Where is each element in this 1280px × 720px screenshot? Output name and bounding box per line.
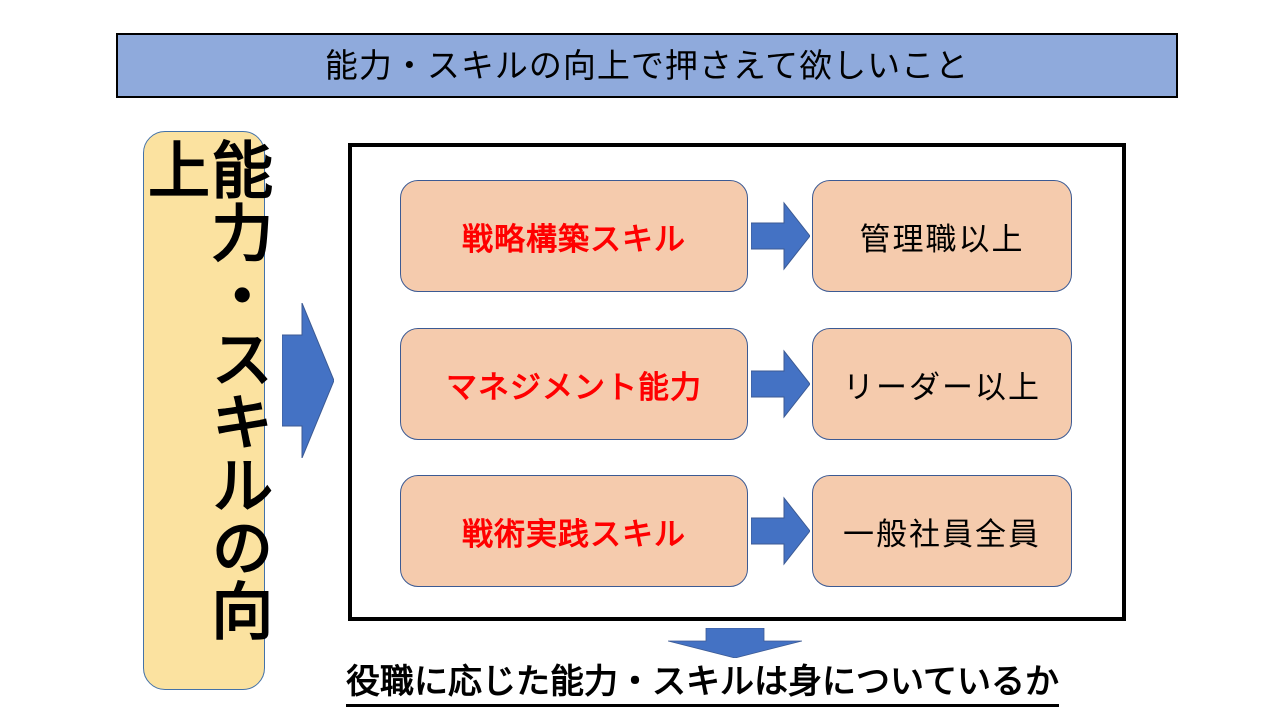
right-arrow-icon [751,349,810,419]
target-box: 管理職以上 [812,180,1072,292]
mapping-panel: 戦略構築スキル 管理職以上 マネジメント能力 リーダー以上 戦術実践スキル [348,143,1126,621]
right-arrow-icon [751,201,810,271]
table-row: マネジメント能力 リーダー以上 [400,328,1122,440]
right-arrow-icon [751,496,810,566]
vertical-theme-box: 能力・スキルの向上 [143,131,265,690]
chevron-right-arrow-icon [282,303,334,458]
skill-label: 戦術実践スキル [462,509,686,554]
skill-label: 戦略構築スキル [462,214,686,259]
skill-box: 戦術実践スキル [400,475,748,587]
conclusion-statement: 役職に応じた能力・スキルは身についているか [346,663,1046,711]
target-label: 管理職以上 [860,214,1025,259]
target-box: 一般社員全員 [812,475,1072,587]
skill-label: マネジメント能力 [446,362,702,407]
vertical-theme-label: 能力・スキルの向上 [141,138,267,689]
target-box: リーダー以上 [812,328,1072,440]
page-title: 能力・スキルの向上で押さえて欲しいこと [325,49,969,82]
target-label: リーダー以上 [843,362,1041,407]
conclusion-text: 役職に応じた能力・スキルは身についているか [346,663,1059,707]
target-label: 一般社員全員 [843,509,1041,554]
down-arrow-icon [668,628,802,658]
skill-box: 戦略構築スキル [400,180,748,292]
skill-box: マネジメント能力 [400,328,748,440]
table-row: 戦術実践スキル 一般社員全員 [400,475,1122,587]
table-row: 戦略構築スキル 管理職以上 [400,180,1122,292]
slide-title-banner: 能力・スキルの向上で押さえて欲しいこと [116,33,1178,98]
